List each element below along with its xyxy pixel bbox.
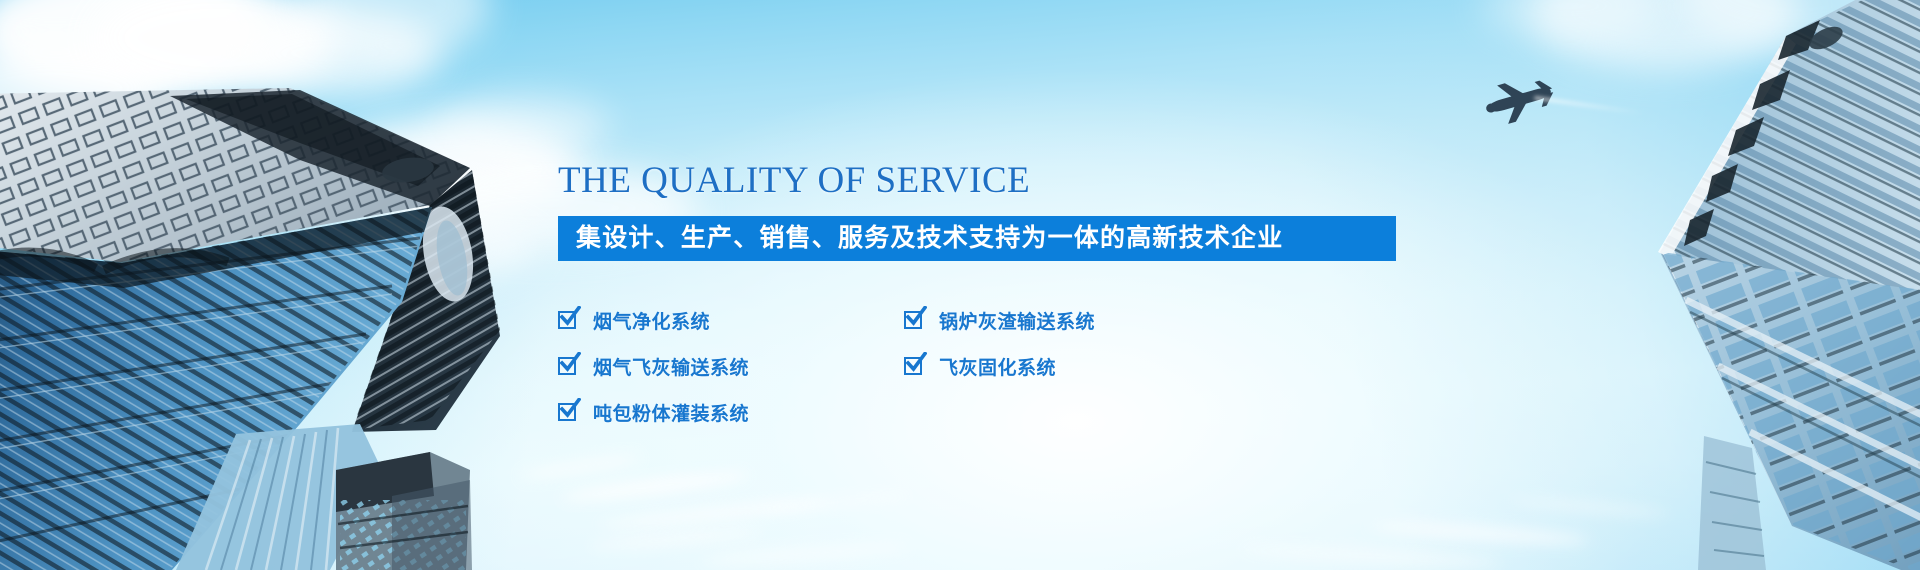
list-item[interactable]: 飞灰固化系统 (904, 343, 1234, 389)
list-item[interactable]: 锅炉灰渣输送系统 (904, 297, 1234, 343)
list-item[interactable]: 烟气净化系统 (558, 297, 888, 343)
check-box-icon (558, 310, 579, 331)
feature-label: 飞灰固化系统 (939, 353, 1056, 380)
feature-label: 烟气净化系统 (593, 307, 710, 334)
airplane-group (1476, 74, 1562, 126)
check-box-icon (904, 310, 925, 331)
feature-label: 锅炉灰渣输送系统 (939, 307, 1095, 334)
page-title: THE QUALITY OF SERVICE (558, 162, 1458, 199)
list-item[interactable]: 烟气飞灰输送系统 (558, 343, 888, 389)
check-box-icon (904, 356, 925, 377)
hero-banner: THE QUALITY OF SERVICE 集设计、生产、销售、服务及技术支持… (0, 0, 1920, 570)
skyscraper-left-icon (0, 0, 560, 570)
check-box-icon (558, 356, 579, 377)
banner-content: THE QUALITY OF SERVICE 集设计、生产、销售、服务及技术支持… (558, 162, 1458, 435)
feature-label: 烟气飞灰输送系统 (593, 353, 749, 380)
list-item[interactable]: 吨包粉体灌装系统 (558, 389, 888, 435)
feature-list: 烟气净化系统 锅炉灰渣输送系统 烟气飞灰输送系统 (558, 297, 1278, 435)
check-box-icon (558, 402, 579, 423)
tagline-text: 集设计、生产、销售、服务及技术支持为一体的高新技术企业 (576, 226, 1283, 251)
tagline-bar: 集设计、生产、销售、服务及技术支持为一体的高新技术企业 (558, 216, 1396, 261)
feature-label: 吨包粉体灌装系统 (593, 399, 749, 426)
